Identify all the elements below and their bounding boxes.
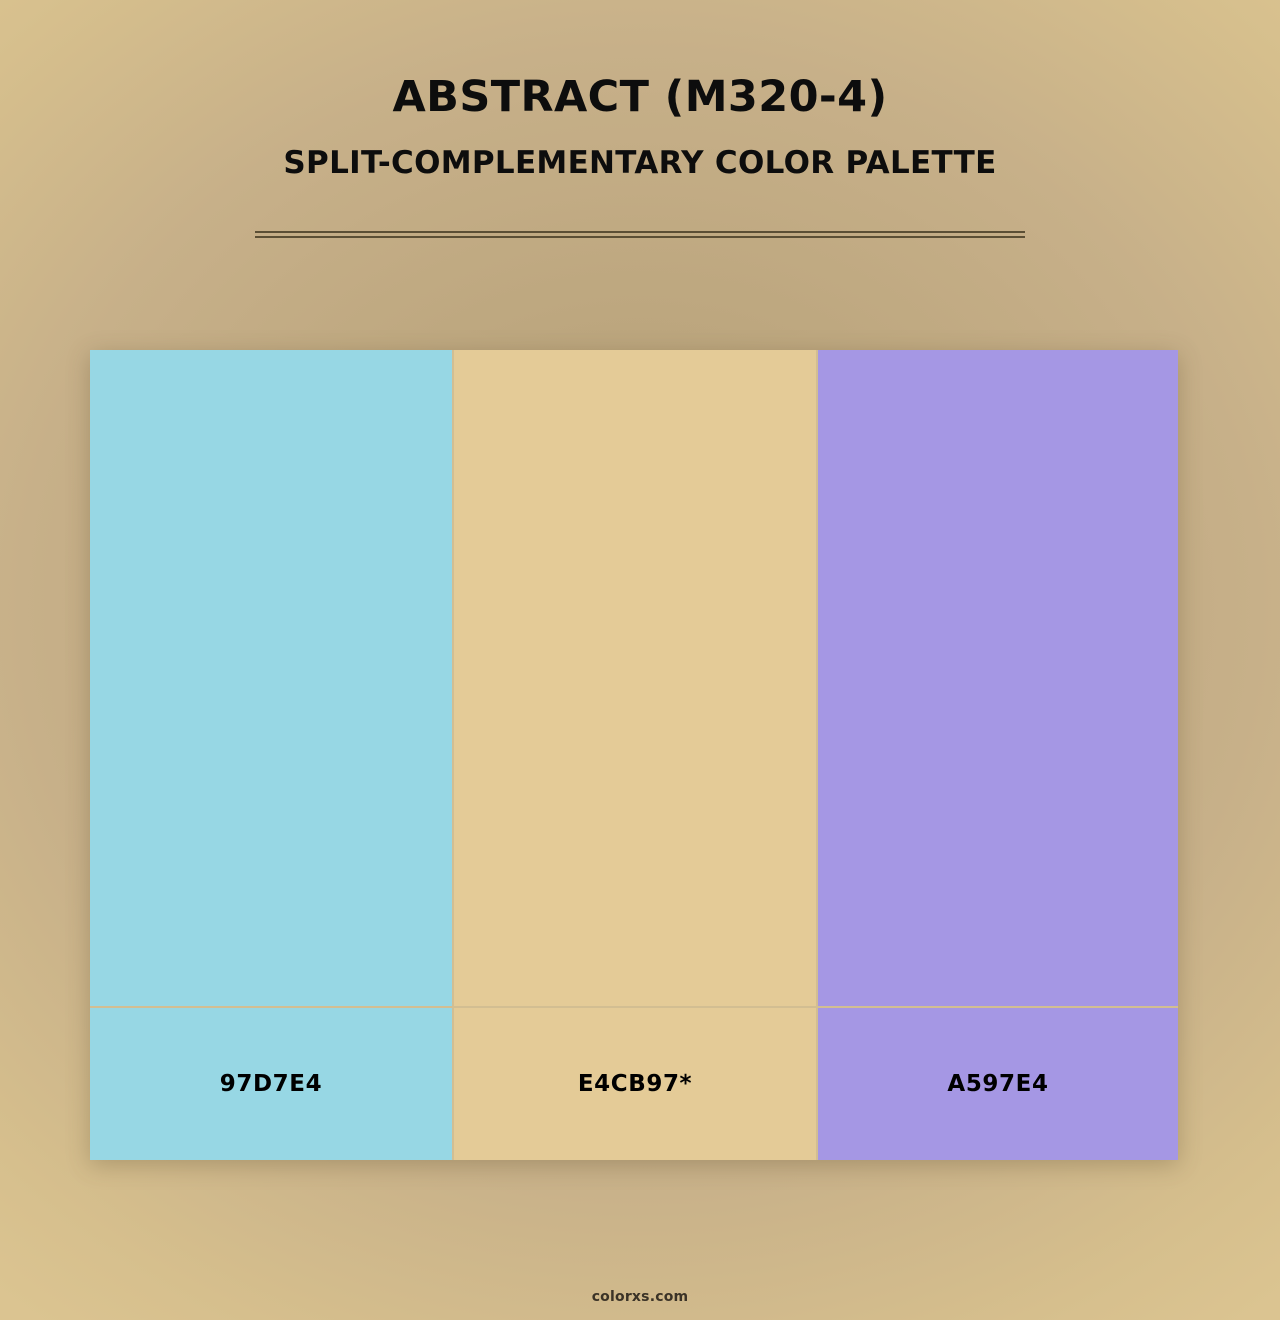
color-swatch-2[interactable]	[454, 350, 816, 1006]
page-title: ABSTRACT (M320-4)	[0, 76, 1280, 119]
header-divider	[255, 231, 1025, 238]
palette-card: 97D7E4 E4CB97* A597E4	[90, 350, 1178, 1160]
swatch-label-strip-3[interactable]: A597E4	[818, 1008, 1178, 1160]
swatch-column-3[interactable]: A597E4	[818, 350, 1178, 1160]
swatch-column-1[interactable]: 97D7E4	[90, 350, 452, 1160]
page-subtitle: SPLIT-COMPLEMENTARY COLOR PALETTE	[0, 148, 1280, 179]
color-swatch-1[interactable]	[90, 350, 452, 1006]
swatch-column-2[interactable]: E4CB97*	[454, 350, 816, 1160]
swatch-hex-label-3: A597E4	[947, 1073, 1048, 1096]
swatch-hex-label-2: E4CB97*	[578, 1073, 692, 1096]
site-credit: colorxs.com	[592, 1289, 689, 1305]
color-palette-page: { "header": { "title": "ABSTRACT (M320-4…	[0, 0, 1280, 1320]
divider-rule-top	[255, 231, 1025, 233]
page-footer: colorxs.com	[0, 1286, 1280, 1305]
page-header: ABSTRACT (M320-4) SPLIT-COMPLEMENTARY CO…	[0, 0, 1280, 179]
color-swatch-3[interactable]	[818, 350, 1178, 1006]
swatch-label-strip-1[interactable]: 97D7E4	[90, 1008, 452, 1160]
swatch-label-strip-2[interactable]: E4CB97*	[454, 1008, 816, 1160]
swatch-hex-label-1: 97D7E4	[220, 1073, 322, 1096]
divider-rule-bottom	[255, 236, 1025, 238]
